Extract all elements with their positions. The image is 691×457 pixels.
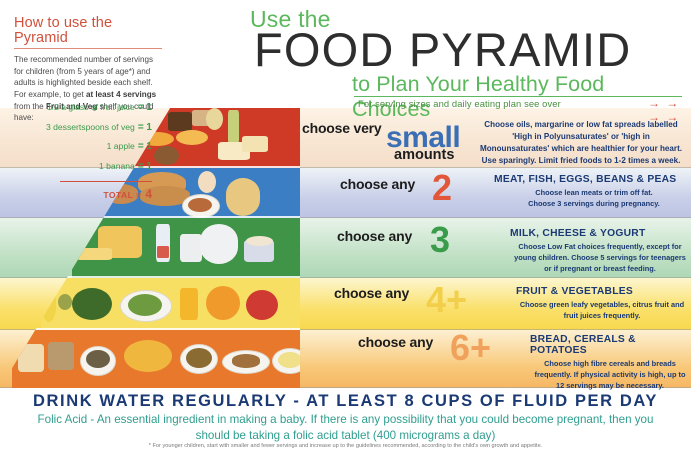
rice-icon — [278, 352, 300, 368]
serving-number-dairy: 3 — [430, 222, 450, 258]
water-message: DRINK WATER REGULARLY - AT LEAST 8 CUPS … — [0, 392, 691, 411]
yogurt-lid-icon — [246, 236, 273, 246]
milk-label-icon — [157, 246, 169, 258]
food-pyramid-poster: How to use the Pyramid The recommended n… — [0, 0, 691, 457]
footnote: * For younger children, start with small… — [0, 443, 691, 449]
serving-value: = 1 — [138, 103, 152, 113]
info-heading-bread: BREAD, CEREALS & POTATOES — [530, 334, 690, 356]
brown-bread-icon — [48, 342, 74, 370]
pyramid-tier-bread — [0, 330, 300, 388]
total-value: 4 — [145, 187, 152, 201]
serving-label: 1 banana — [99, 162, 135, 171]
serving-label: 1/2 a glass of fruit juice — [47, 103, 135, 112]
servings-total-row: TOTAL = 4 — [4, 187, 164, 201]
tier-dairy-foods — [0, 218, 300, 278]
potato-icon — [232, 354, 260, 368]
banana-icon — [42, 286, 56, 322]
serving-value: = 1 — [138, 123, 152, 133]
noodles-icon — [186, 348, 212, 368]
serving-number-fruitveg: 4+ — [426, 282, 467, 318]
broccoli-icon — [72, 288, 112, 320]
list-item: 1/2 a glass of fruit juice = 1 — [4, 103, 164, 113]
serving-number-bread: 6+ — [450, 330, 491, 366]
info-body-fruitveg: Choose green leafy vegetables, citrus fr… — [516, 299, 688, 321]
mushroom-icon — [58, 294, 72, 310]
spread-icon — [242, 136, 268, 152]
amount-word-amounts: amounts — [394, 148, 454, 163]
serving-label: 3 dessertspoons of veg — [46, 123, 135, 132]
serving-number-meat: 2 — [432, 170, 452, 206]
info-bread: BREAD, CEREALS & POTATOES Choose high fi… — [530, 334, 690, 391]
choose-label-fats: choose very — [302, 120, 382, 136]
egg-icon — [198, 171, 216, 193]
servings-total-rule — [60, 181, 152, 182]
list-item: 1 apple = 1 — [4, 142, 164, 152]
milk-jug-icon — [200, 224, 238, 264]
orange-icon — [206, 286, 240, 320]
cake-icon — [206, 108, 223, 130]
masthead-see-over: For serving sizes and daily eating plan … — [358, 98, 561, 109]
info-body-fats: Choose oils, margarine or low fat spread… — [478, 119, 684, 168]
masthead: Use the FOOD PYRAMID to Plan Your Health… — [236, 4, 686, 104]
choose-label-fruitveg: choose any — [334, 285, 409, 301]
apple-icon — [246, 290, 278, 320]
info-fruitveg: FRUIT & VEGETABLES Choose green leafy ve… — [516, 286, 688, 321]
white-bread-icon — [18, 344, 44, 372]
info-meat: MEAT, FISH, EGGS, BEANS & PEAS Choose le… — [494, 174, 690, 209]
cereal-icon — [86, 350, 110, 368]
list-item: 3 dessertspoons of veg = 1 — [4, 123, 164, 133]
milk-carton-icon — [180, 234, 202, 262]
pyramid-tier-dairy — [0, 218, 300, 278]
info-body-bread: Choose high fibre cereals and breads fre… — [530, 358, 690, 391]
info-heading-dairy: MILK, CHEESE & YOGURT — [510, 228, 690, 239]
choose-label-bread: choose any — [358, 334, 433, 350]
page-title: FOOD PYRAMID — [254, 26, 631, 73]
oil-bottle-icon — [228, 110, 239, 144]
beans-icon — [188, 198, 212, 212]
crisps-icon — [176, 130, 208, 145]
serving-value: = 1 — [138, 162, 152, 172]
info-dairy: MILK, CHEESE & YOGURT Choose Low Fat cho… — [510, 228, 690, 274]
list-item: 1 banana = 1 — [4, 162, 164, 172]
masthead-subtitle: to Plan Your Healthy Food Choices — [352, 72, 686, 122]
how-to-title: How to use the Pyramid — [14, 16, 164, 45]
pasta-icon — [124, 340, 172, 372]
servings-example-list: 1/2 a glass of fruit juice = 1 3 dessert… — [4, 103, 164, 201]
info-heading-fruitveg: FRUIT & VEGETABLES — [516, 286, 688, 297]
tier-fruitveg-foods — [0, 278, 300, 330]
info-body-meat: Choose lean meats or trim off fat. Choos… — [494, 187, 690, 209]
how-to-rule — [14, 48, 162, 49]
orange-juice-glass-icon — [180, 288, 198, 320]
tier-bread-foods — [0, 330, 300, 388]
info-heading-meat: MEAT, FISH, EGGS, BEANS & PEAS — [494, 174, 690, 185]
total-label: TOTAL = — [103, 190, 141, 200]
salad-icon — [128, 294, 162, 316]
serving-value: = 1 — [138, 142, 152, 152]
choose-label-dairy: choose any — [337, 228, 412, 244]
folic-acid-message: Folic Acid - An essential ingredient in … — [26, 412, 665, 445]
masthead-rule — [354, 96, 682, 97]
fish-icon — [226, 178, 260, 216]
chocolate-bar-icon — [168, 112, 192, 131]
pyramid-tier-fruitveg — [0, 278, 300, 330]
how-to-bold-1: at least 4 servings — [86, 90, 156, 99]
info-fats: Choose oils, margarine or low fat spread… — [478, 119, 684, 168]
choose-label-meat: choose any — [340, 176, 415, 192]
serving-label: 1 apple — [107, 142, 135, 151]
cheese-slice-icon — [76, 248, 112, 260]
info-body-dairy: Choose Low Fat choices frequently, excep… — [510, 241, 690, 274]
